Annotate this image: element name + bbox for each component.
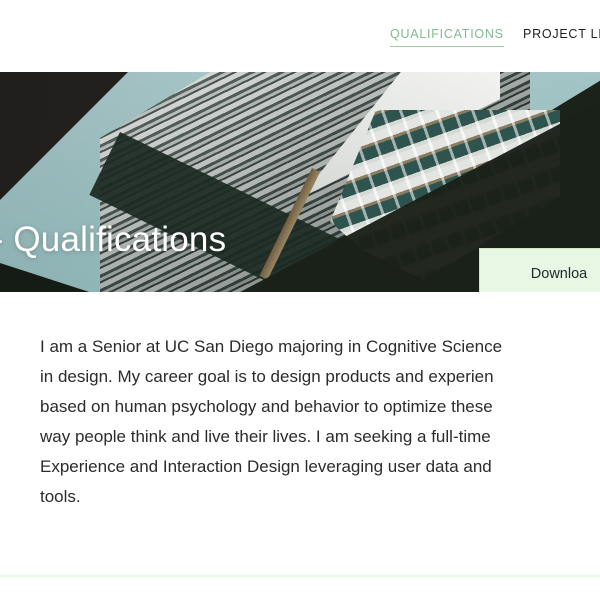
main-content: I am a Senior at UC San Diego majoring i… xyxy=(0,292,600,600)
intro-line: based on human psychology and behavior t… xyxy=(40,392,600,422)
intro-paragraph: I am a Senior at UC San Diego majoring i… xyxy=(40,332,600,512)
intro-line: I am a Senior at UC San Diego majoring i… xyxy=(40,332,600,362)
nav-item-qualifications[interactable]: QUALIFICATIONS xyxy=(390,28,504,47)
section-divider xyxy=(0,574,600,578)
intro-line: in design. My career goal is to design p… xyxy=(40,362,600,392)
download-resume-button[interactable]: Downloa xyxy=(479,248,600,292)
site-header: QUALIFICATIONS PROJECT LIS xyxy=(0,0,600,72)
intro-line: Experience and Interaction Design levera… xyxy=(40,452,600,482)
nav-item-project-list[interactable]: PROJECT LIS xyxy=(523,28,600,41)
intro-line: tools. xyxy=(40,482,600,512)
hero-title: g - Qualifications xyxy=(0,220,226,260)
primary-navigation: QUALIFICATIONS PROJECT LIS xyxy=(0,0,600,72)
intro-line: way people think and live their lives. I… xyxy=(40,422,600,452)
hero-banner: g - Qualifications UCATION|SKILLS Downlo… xyxy=(0,72,600,292)
